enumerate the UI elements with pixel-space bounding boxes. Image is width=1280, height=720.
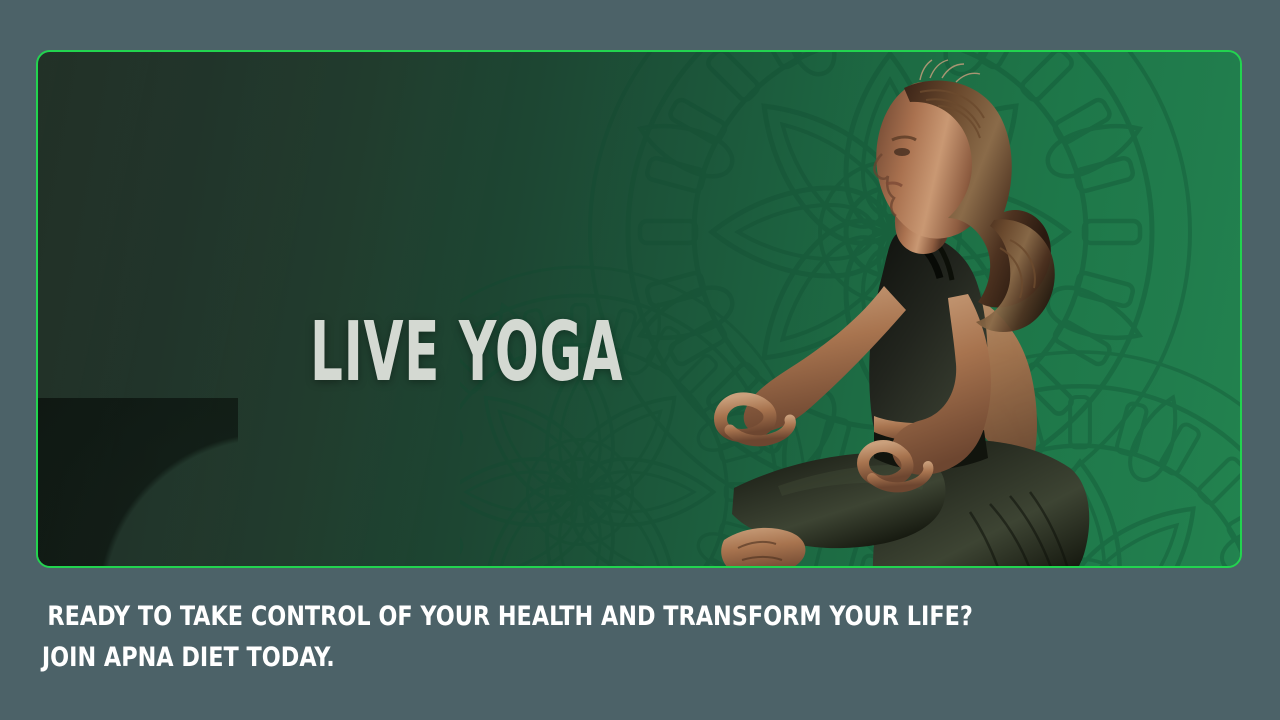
hero-corner-accent-shape (38, 398, 238, 566)
page-root: LIVE YOGA (0, 0, 1280, 720)
hero-banner-card[interactable]: LIVE YOGA (36, 50, 1242, 568)
hero-clip-region: LIVE YOGA (38, 52, 1240, 566)
call-to-action-caption: READY TO TAKE CONTROL OF YOUR HEALTH AND… (40, 596, 1240, 678)
caption-line-1: READY TO TAKE CONTROL OF YOUR HEALTH AND… (40, 596, 1144, 637)
caption-line-2: JOIN APNA DIET TODAY. (40, 637, 1144, 678)
hero-title: LIVE YOGA (310, 310, 623, 396)
